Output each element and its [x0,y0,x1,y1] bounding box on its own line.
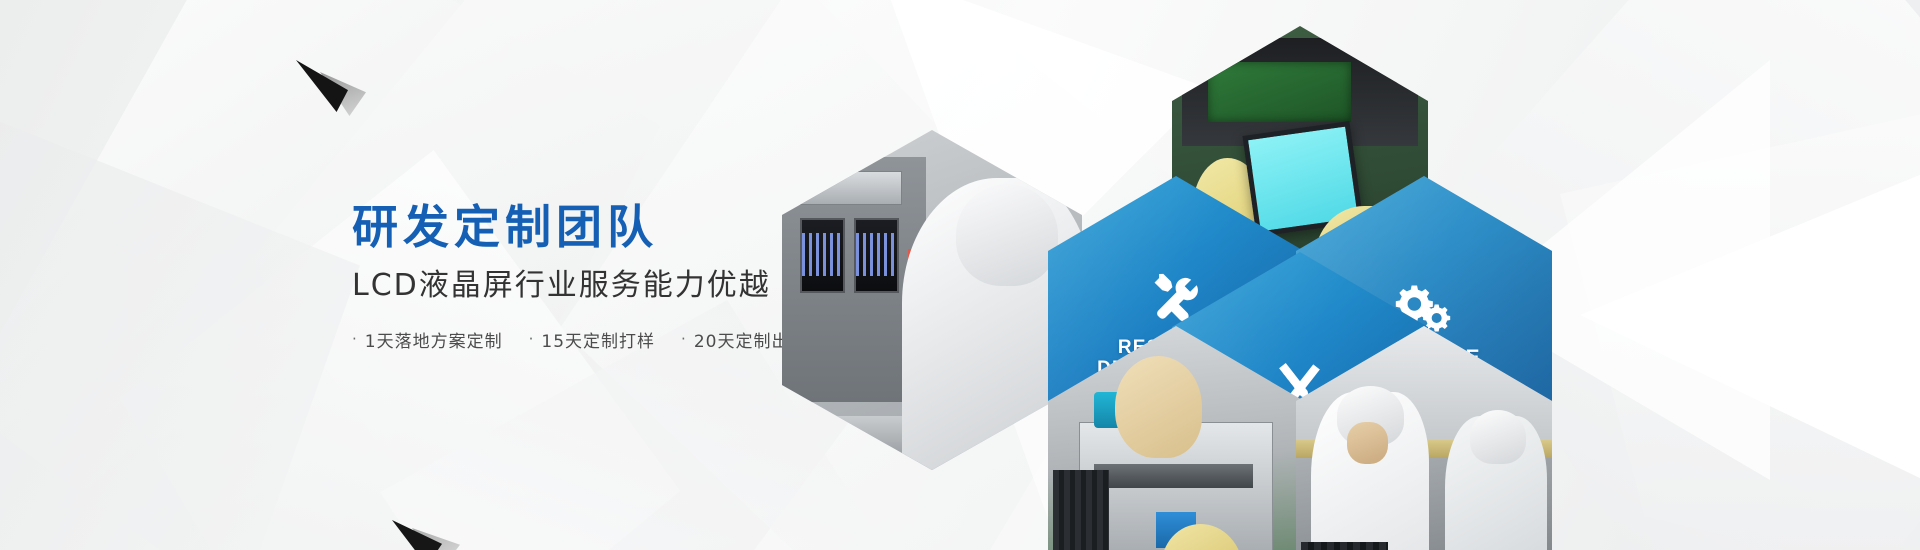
bullet-marker-icon: · [529,332,535,347]
hexagon-cluster: RESEARCH DEVELOPMENT PRODUCE [900,0,1920,550]
bullet-marker-icon: · [352,332,358,347]
bullet-label: 15天定制打样 [541,327,655,352]
bullet-item-2: · 15天定制打样 [529,327,655,352]
bullet-label: 1天落地方案定制 [365,327,503,352]
bullet-item-1: · 1天落地方案定制 [352,327,503,352]
promo-banner: 研发定制团队 LCD液晶屏行业服务能力优越 · 1天落地方案定制 · 15天定制… [0,0,1920,550]
bullet-marker-icon: · [681,332,687,347]
